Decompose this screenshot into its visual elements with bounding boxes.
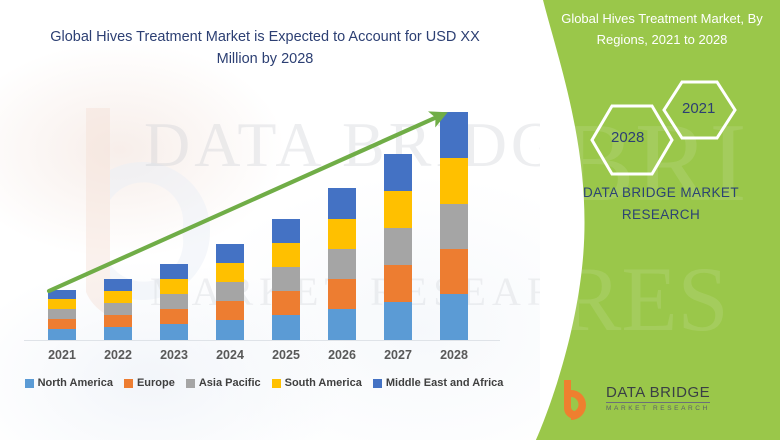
bar-segment bbox=[216, 282, 244, 301]
legend-label: South America bbox=[285, 377, 362, 389]
bar-segment bbox=[272, 219, 300, 243]
bar-column-2027 bbox=[384, 154, 412, 340]
bar-segment bbox=[272, 243, 300, 267]
bar-segment bbox=[104, 279, 132, 291]
legend-item[interactable]: Asia Pacific bbox=[186, 377, 261, 389]
x-axis-label-2023: 2023 bbox=[144, 348, 204, 362]
x-axis-label-2024: 2024 bbox=[200, 348, 260, 362]
chart-legend: North AmericaEuropeAsia PacificSouth Ame… bbox=[14, 377, 514, 389]
bar-segment bbox=[216, 320, 244, 340]
bar-segment bbox=[384, 191, 412, 228]
bar-segment bbox=[216, 301, 244, 320]
bar-segment bbox=[272, 267, 300, 291]
bar-segment bbox=[48, 299, 76, 309]
bar-segment bbox=[160, 279, 188, 294]
bar-segment bbox=[384, 302, 412, 340]
bar-segment bbox=[440, 249, 468, 294]
brand-panel-title: Global Hives Treatment Market, By Region… bbox=[548, 8, 776, 50]
x-axis-label-2025: 2025 bbox=[256, 348, 316, 362]
bar-segment bbox=[384, 228, 412, 265]
bar-segment bbox=[384, 265, 412, 302]
logo-main-text: DATA BRIDGE bbox=[606, 385, 710, 403]
bar-segment bbox=[328, 279, 356, 309]
hexagon-2028-label: 2028 bbox=[611, 129, 644, 146]
legend-label: Asia Pacific bbox=[199, 377, 261, 389]
bar-segment bbox=[104, 303, 132, 315]
bar-column-2024 bbox=[216, 244, 244, 340]
legend-swatch-icon bbox=[25, 379, 34, 388]
bar-segment bbox=[48, 290, 76, 299]
bar-segment bbox=[160, 264, 188, 279]
x-axis-label-2022: 2022 bbox=[88, 348, 148, 362]
bar-segment bbox=[216, 244, 244, 263]
region-year-hexagons: 2021 2028 bbox=[570, 78, 760, 183]
legend-item[interactable]: South America bbox=[272, 377, 362, 389]
bar-segment bbox=[440, 112, 468, 158]
legend-label: North America bbox=[38, 377, 113, 389]
bar-segment bbox=[440, 204, 468, 249]
legend-item[interactable]: North America bbox=[25, 377, 113, 389]
legend-item[interactable]: Europe bbox=[124, 377, 175, 389]
data-bridge-logo: DATA BRIDGE MARKET RESEARCH bbox=[556, 378, 710, 420]
hexagon-pair-icon bbox=[570, 78, 760, 178]
legend-label: Middle East and Africa bbox=[386, 377, 504, 389]
bar-segment bbox=[216, 263, 244, 282]
legend-swatch-icon bbox=[373, 379, 382, 388]
legend-item[interactable]: Middle East and Africa bbox=[373, 377, 504, 389]
x-axis-label-2028: 2028 bbox=[424, 348, 484, 362]
bar-column-2025 bbox=[272, 219, 300, 340]
bar-segment bbox=[160, 324, 188, 340]
bar-segment bbox=[48, 329, 76, 340]
bar-segment bbox=[104, 315, 132, 327]
legend-swatch-icon bbox=[124, 379, 133, 388]
bar-segment bbox=[328, 219, 356, 249]
bar-segment bbox=[104, 327, 132, 340]
infographic-root: DATA BRIDGE MARKET RESEARCH Global Hives… bbox=[0, 0, 780, 440]
bar-column-2028 bbox=[440, 112, 468, 340]
x-axis-line bbox=[24, 340, 500, 341]
bar-segment bbox=[440, 158, 468, 204]
bar-segment bbox=[384, 154, 412, 191]
bar-segment bbox=[48, 319, 76, 329]
bar-segment bbox=[160, 294, 188, 309]
bar-segment bbox=[48, 309, 76, 319]
x-axis-label-2027: 2027 bbox=[368, 348, 428, 362]
bar-column-2023 bbox=[160, 264, 188, 340]
data-bridge-logo-icon bbox=[556, 378, 600, 420]
bar-segment bbox=[104, 291, 132, 303]
plot-area: 20212022202320242025202620272028 bbox=[0, 0, 540, 440]
x-axis-label-2026: 2026 bbox=[312, 348, 372, 362]
bar-segment bbox=[328, 188, 356, 219]
brand-panel-content: Global Hives Treatment Market, By Region… bbox=[540, 0, 780, 440]
bar-segment bbox=[272, 291, 300, 315]
legend-swatch-icon bbox=[272, 379, 281, 388]
bar-column-2021 bbox=[48, 290, 76, 340]
chart-panel: DATA BRIDGE MARKET RESEARCH Global Hives… bbox=[0, 0, 540, 440]
bar-segment bbox=[160, 309, 188, 324]
x-axis-label-2021: 2021 bbox=[32, 348, 92, 362]
bar-segment bbox=[272, 315, 300, 340]
bar-column-2022 bbox=[104, 279, 132, 340]
legend-swatch-icon bbox=[186, 379, 195, 388]
brand-name-text: DATA BRIDGE MARKET RESEARCH bbox=[556, 182, 766, 226]
bar-segment bbox=[440, 294, 468, 340]
bar-segment bbox=[328, 309, 356, 340]
hexagon-2021-label: 2021 bbox=[682, 100, 715, 117]
legend-label: Europe bbox=[137, 377, 175, 389]
bar-segment bbox=[328, 249, 356, 279]
logo-sub-text: MARKET RESEARCH bbox=[606, 406, 710, 413]
bar-column-2026 bbox=[328, 188, 356, 340]
data-bridge-logo-text: DATA BRIDGE MARKET RESEARCH bbox=[606, 385, 710, 413]
